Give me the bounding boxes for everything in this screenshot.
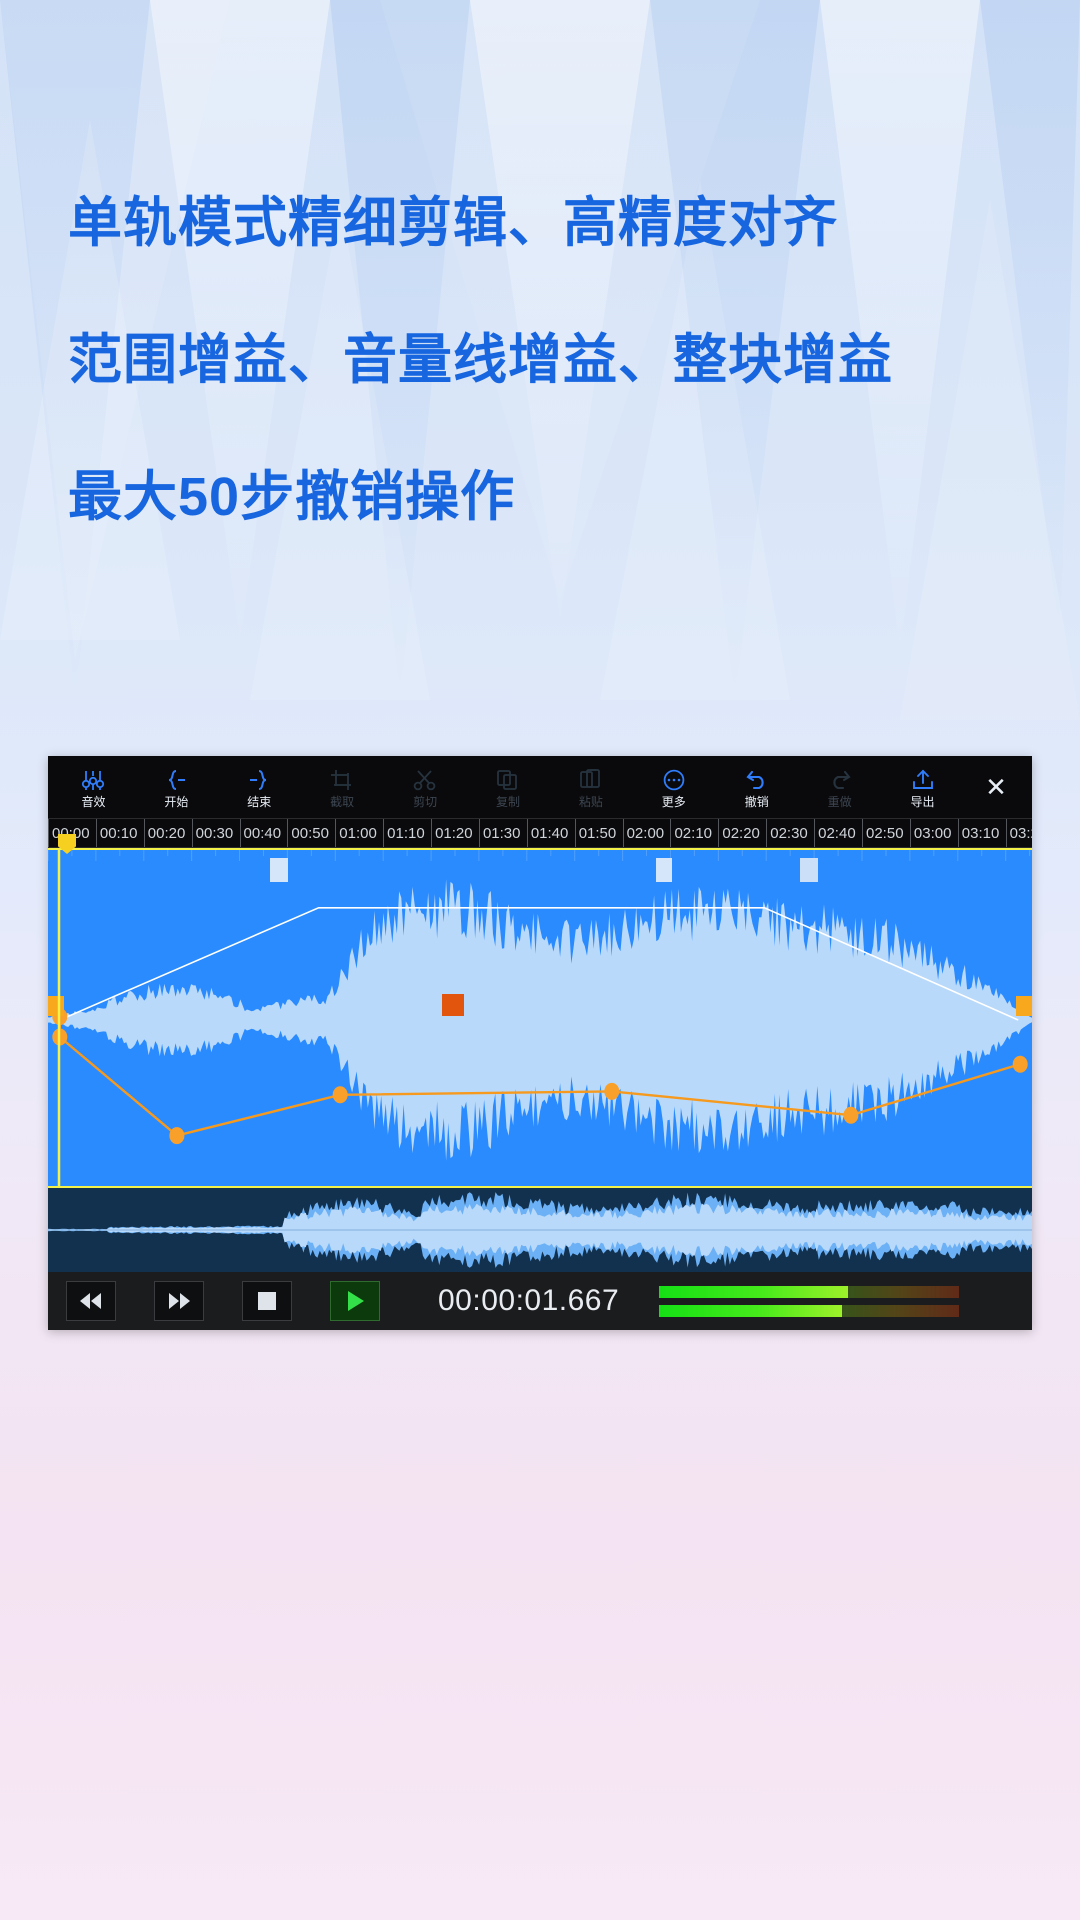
toolbar-button-label: 开始 [164, 796, 188, 808]
ruler-tick: 00:10 [96, 819, 144, 848]
equalizer-icon [81, 767, 105, 793]
paste-icon [579, 767, 603, 793]
export-icon [911, 767, 935, 793]
waveform-editor-pane[interactable] [48, 848, 1032, 1188]
toolbar-button-剪切: 剪切 [384, 756, 467, 818]
fast-forward-icon [167, 1293, 191, 1309]
ruler-tick: 02:30 [766, 819, 814, 848]
ruler-tick: 03:2 [1006, 819, 1032, 848]
toolbar-button-label: 导出 [911, 796, 935, 808]
level-meter-right [659, 1305, 959, 1317]
copy-icon [496, 767, 520, 793]
ruler-tick: 03:00 [910, 819, 958, 848]
ruler-tick: 01:40 [527, 819, 575, 848]
mark-out-icon [247, 767, 271, 793]
headline-line-2: 范围增益、音量线增益、整块增益 [68, 315, 1028, 394]
toolbar-button-label: 剪切 [413, 796, 437, 808]
ruler-tick: 00:40 [240, 819, 288, 848]
stop-button[interactable] [242, 1281, 292, 1321]
toolbar-button-粘贴: 粘贴 [549, 756, 632, 818]
ruler-tick: 01:30 [479, 819, 527, 848]
toolbar-button-label: 结束 [247, 796, 271, 808]
toolbar-button-截取: 截取 [301, 756, 384, 818]
toolbar-button-结束[interactable]: 结束 [218, 756, 301, 818]
toolbar-button-开始[interactable]: 开始 [135, 756, 218, 818]
play-button[interactable] [330, 1281, 380, 1321]
ruler-tick: 01:50 [575, 819, 623, 848]
scissors-icon [413, 767, 437, 793]
toolbar-button-label: 撤销 [745, 796, 769, 808]
region-marker-3 [800, 858, 818, 882]
transport-bar: 00:00:01.667 [48, 1272, 1032, 1330]
waveform-graphic [48, 850, 1032, 1188]
toolbar-button-音效[interactable]: 音效 [52, 756, 135, 818]
ruler-tick: 02:40 [814, 819, 862, 848]
toolbar-button-更多[interactable]: 更多 [632, 756, 715, 818]
toolbar-button-label: 粘贴 [579, 796, 603, 808]
gain-node[interactable] [604, 1083, 619, 1100]
redo-icon [827, 767, 853, 793]
gain-node[interactable] [333, 1086, 348, 1103]
toolbar-button-label: 更多 [662, 796, 686, 808]
crop-icon [330, 767, 354, 793]
region-marker-1 [270, 858, 288, 882]
ruler-tick: 02:10 [670, 819, 718, 848]
headline-line-1: 单轨模式精细剪辑、高精度对齐 [68, 178, 1028, 257]
headline-line-3: 最大50步撤销操作 [68, 452, 1028, 531]
more-dots-icon [661, 767, 687, 793]
toolbar-button-导出[interactable]: 导出 [881, 756, 964, 818]
ruler-tick: 02:20 [718, 819, 766, 848]
level-meters [659, 1286, 959, 1317]
toolbar-button-label: 音效 [81, 796, 105, 808]
rewind-button[interactable] [66, 1281, 116, 1321]
play-icon [346, 1291, 364, 1311]
undo-icon [744, 767, 770, 793]
selection-start-handle [48, 996, 64, 1016]
fast-forward-button[interactable] [154, 1281, 204, 1321]
ruler-tick: 01:20 [431, 819, 479, 848]
ruler-tick: 03:10 [958, 819, 1006, 848]
rewind-icon [79, 1293, 103, 1309]
toolbar-button-label: 截取 [330, 796, 354, 808]
selection-end-handle [1016, 996, 1032, 1016]
ruler-tick: 02:50 [862, 819, 910, 848]
toolbar-button-复制: 复制 [467, 756, 550, 818]
level-meter-left [659, 1286, 959, 1298]
overview-minimap[interactable] [48, 1188, 1032, 1272]
gain-node[interactable] [1013, 1056, 1028, 1073]
timecode-display: 00:00:01.667 [438, 1284, 619, 1318]
ruler-tick: 01:10 [383, 819, 431, 848]
gain-node[interactable] [169, 1127, 184, 1144]
timeline-ruler[interactable]: 00:0000:1000:2000:3000:4000:5001:0001:10… [48, 818, 1032, 848]
gain-node[interactable] [843, 1107, 858, 1124]
close-button[interactable]: ✕ [964, 756, 1028, 818]
audio-editor-window: 音效开始结束截取剪切复制粘贴更多撤销重做导出✕ 00:0000:1000:200… [48, 756, 1032, 1330]
ruler-tick: 00:30 [192, 819, 240, 848]
stop-icon [258, 1292, 276, 1310]
ruler-tick: 01:00 [335, 819, 383, 848]
toolbar-button-label: 复制 [496, 796, 520, 808]
editor-toolbar: 音效开始结束截取剪切复制粘贴更多撤销重做导出✕ [48, 756, 1032, 818]
toolbar-button-label: 重做 [828, 796, 852, 808]
ruler-tick: 02:00 [623, 819, 671, 848]
ruler-tick: 00:20 [144, 819, 192, 848]
block-gain-marker [442, 994, 464, 1016]
toolbar-button-撤销[interactable]: 撤销 [715, 756, 798, 818]
ruler-tick: 00:50 [287, 819, 335, 848]
overview-waveform-graphic [48, 1188, 1032, 1272]
mark-in-icon [164, 767, 188, 793]
toolbar-button-重做: 重做 [798, 756, 881, 818]
region-marker-2 [656, 858, 672, 882]
